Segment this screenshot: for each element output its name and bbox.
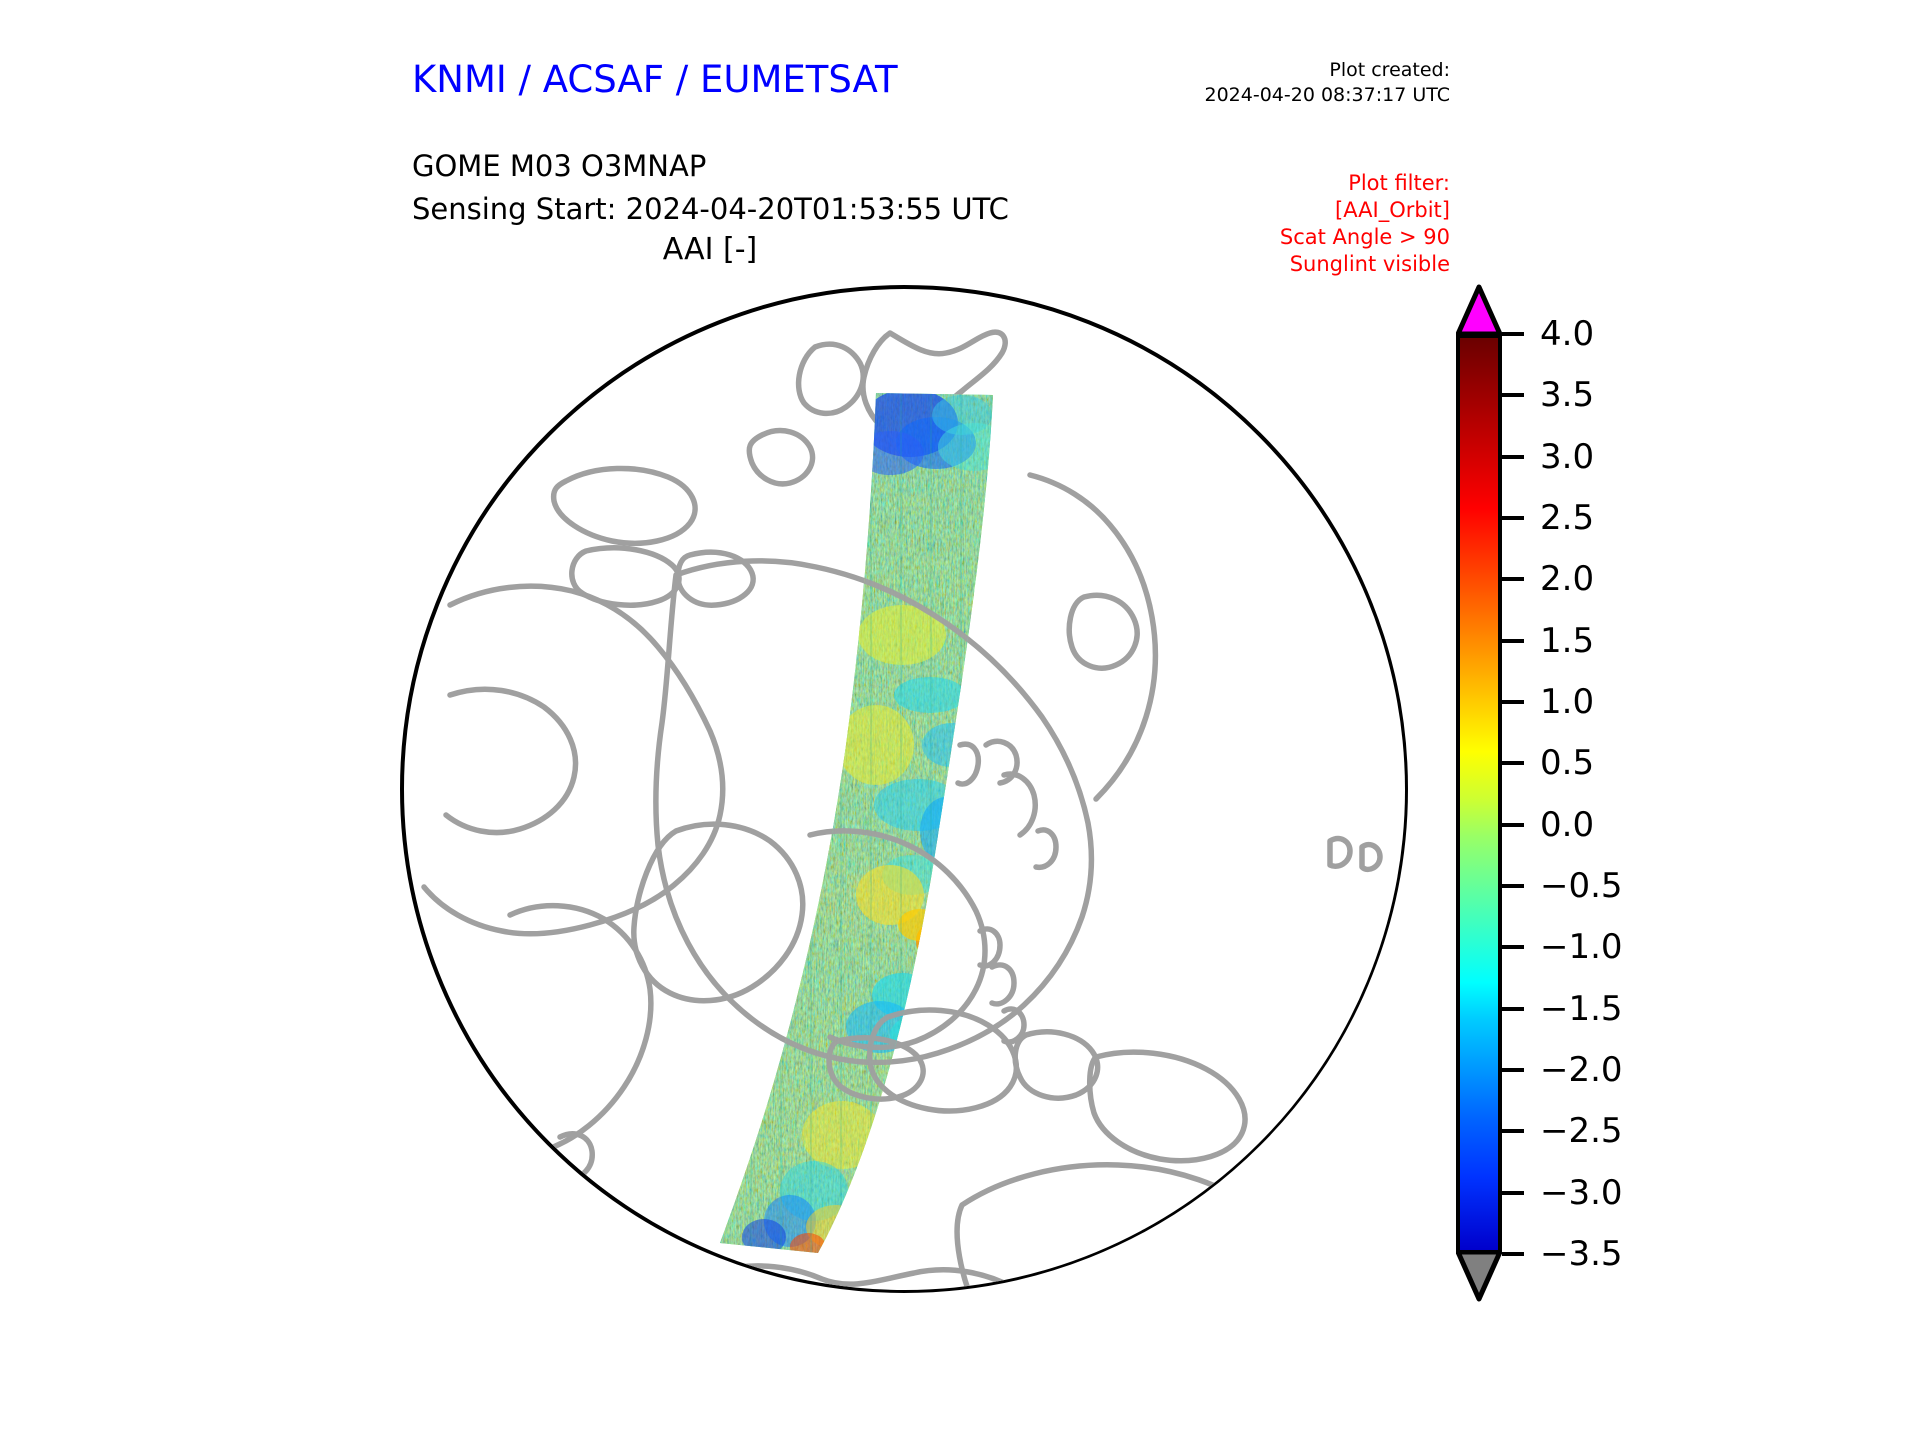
colorbar-under-arrow [1456,1250,1502,1302]
colorbar: 4.03.53.02.52.01.51.00.50.0−0.5−1.0−1.5−… [1448,280,1708,1280]
globe-contents [390,275,1420,1305]
plot-filter-name: [AAI_Orbit] [1180,197,1450,224]
colorbar-tick [1502,577,1524,581]
colorbar-tick-label: −3.5 [1540,1237,1623,1271]
colorbar-tick-label: −2.0 [1540,1053,1623,1087]
plot-created-label: Plot created: [1165,58,1450,83]
colorbar-tick [1502,1191,1524,1195]
colorbar-tick-label: 2.5 [1540,501,1594,535]
plot-created-block: Plot created: 2024-04-20 08:37:17 UTC [1165,58,1450,108]
colorbar-tick-label: 3.0 [1540,440,1594,474]
colorbar-tick [1502,700,1524,704]
colorbar-tick [1502,639,1524,643]
colorbar-gradient [1456,334,1502,1254]
plot-created-time: 2024-04-20 08:37:17 UTC [1165,83,1450,108]
colorbar-tick [1502,1129,1524,1133]
colorbar-tick [1502,1068,1524,1072]
colorbar-tick-label: 1.5 [1540,624,1594,658]
colorbar-tick [1502,761,1524,765]
plot-filter-sunglint: Sunglint visible [1180,251,1450,278]
colorbar-tick [1502,823,1524,827]
plot-filter-label: Plot filter: [1180,170,1450,197]
plot-filter-scat-angle: Scat Angle > 90 [1180,224,1450,251]
colorbar-over-arrow [1456,284,1502,336]
colorbar-tick [1502,945,1524,949]
colorbar-tick [1502,884,1524,888]
colorbar-tick-label: 2.0 [1540,562,1594,596]
colorbar-tick-label: −2.5 [1540,1114,1623,1148]
colorbar-tick-label: 1.0 [1540,685,1594,719]
map-panel [390,275,1420,1305]
colorbar-tick [1502,332,1524,336]
colorbar-tick [1502,1252,1524,1256]
colorbar-tick [1502,393,1524,397]
colorbar-tick-label: −0.5 [1540,869,1623,903]
colorbar-tick-label: −3.0 [1540,1176,1623,1210]
org-title: KNMI / ACSAF / EUMETSAT [412,58,898,101]
sensing-start: Sensing Start: 2024-04-20T01:53:55 UTC [412,188,1009,231]
colorbar-tick-label: −1.5 [1540,992,1623,1026]
map-svg [390,275,1420,1305]
colorbar-tick-label: 3.5 [1540,378,1594,412]
colorbar-tick [1502,1007,1524,1011]
plot-filter-block: Plot filter: [AAI_Orbit] Scat Angle > 90… [1180,170,1450,278]
colorbar-tick-label: 4.0 [1540,317,1594,351]
colorbar-tick-label: 0.5 [1540,746,1594,780]
colorbar-tick [1502,455,1524,459]
colorbar-tick-label: −1.0 [1540,930,1623,964]
dataset-name: GOME M03 O3MNAP [412,145,1009,188]
colorbar-tick [1502,516,1524,520]
dataset-info: GOME M03 O3MNAP Sensing Start: 2024-04-2… [412,145,1009,231]
colorbar-tick-label: 0.0 [1540,808,1594,842]
